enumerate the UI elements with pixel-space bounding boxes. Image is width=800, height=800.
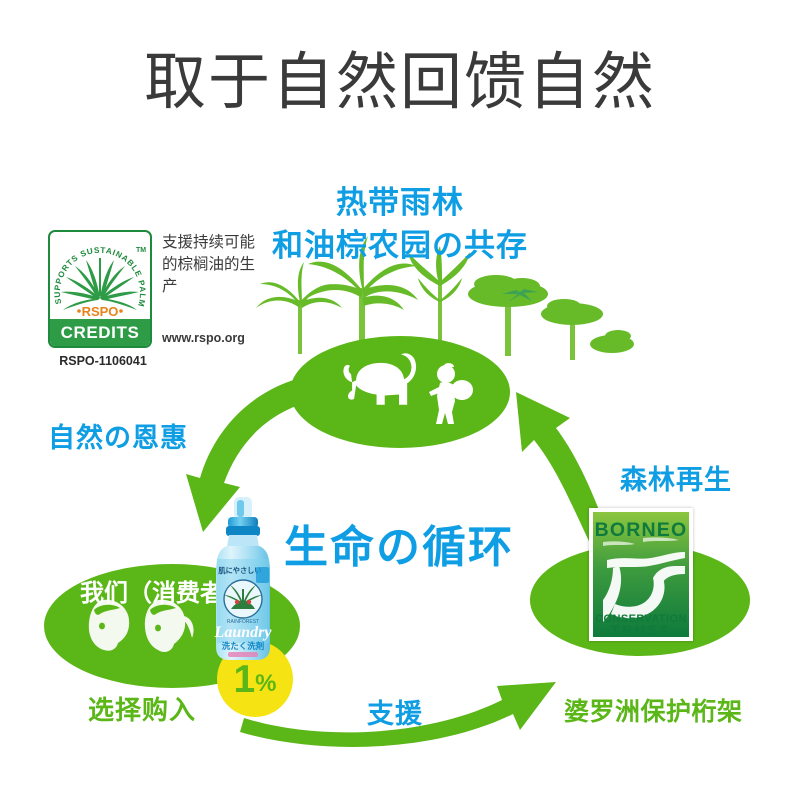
label-choose-purchase: 选择购入: [88, 690, 196, 727]
laundry-bottle: 肌にやさしい RAINFOREST Laundry 洗たく洗剤: [212, 497, 274, 662]
bct-bottom-text-2: TRUST: [611, 623, 671, 638]
label-forest-regeneration: 森林再生: [620, 458, 732, 497]
badge-number: 1: [233, 660, 255, 699]
infographic-canvas: 取于自然回馈自然: [0, 0, 800, 800]
cycle-diagram-svg: [0, 0, 800, 800]
label-rainforest-line2: 和油棕农园の共存: [0, 225, 800, 268]
label-cycle-of-life: 生命の循环: [284, 511, 514, 575]
rspo-code: RSPO-1106041: [44, 354, 162, 368]
label-support: 支援: [367, 692, 423, 731]
bct-logo: BORNEO CONSERVATION TRUST: [589, 508, 693, 641]
rspo-url[interactable]: www.rspo.org: [162, 331, 245, 345]
label-nature-blessing: 自然の恩惠: [48, 416, 188, 455]
label-borneo-conservation-trust: 婆罗洲保护桁架: [564, 692, 743, 728]
bottle-brand: Laundry: [214, 624, 273, 641]
bottle-top-label: 肌にやさしい: [217, 566, 261, 575]
bottle-sub-label: 洗たく洗剤: [222, 641, 265, 651]
bct-top-text: BORNEO: [595, 519, 688, 541]
label-rainforest-caption: 热带雨林 和油棕农园の共存: [0, 182, 800, 268]
rspo-brand-text: RSPO: [82, 304, 119, 319]
label-rainforest-line1: 热带雨林: [0, 182, 800, 225]
rspo-credits-banner: CREDITS: [50, 319, 150, 346]
badge-percent-symbol: %: [255, 672, 276, 696]
